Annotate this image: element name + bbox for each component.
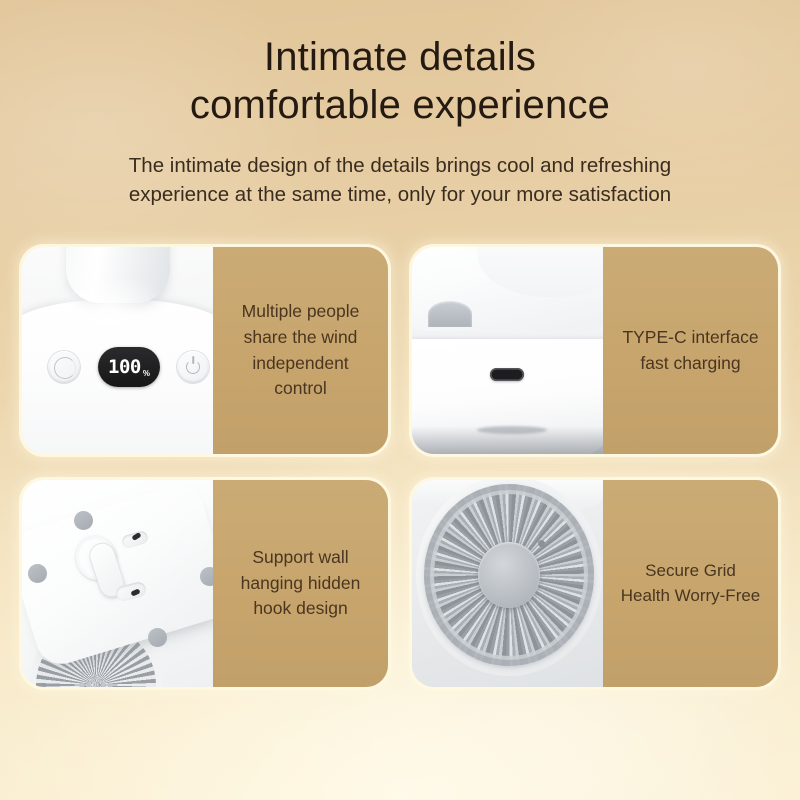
rubber-foot-pad bbox=[200, 567, 213, 586]
product-photo-usb-c-port bbox=[412, 247, 603, 454]
subtitle-line2: experience at the same time, only for yo… bbox=[0, 180, 800, 209]
caption-text-3: Support wall hanging hidden hook design bbox=[241, 545, 361, 622]
product-photo-control-panel: 100 % bbox=[22, 247, 213, 454]
feature-card-wall-hanging-hook[interactable]: Support wall hanging hidden hook design bbox=[22, 480, 388, 687]
fan-grille-icon bbox=[424, 484, 594, 666]
led-display: 100 % bbox=[98, 347, 160, 387]
product-photo-fan-grille bbox=[412, 480, 603, 687]
fan-speed-button bbox=[48, 351, 80, 383]
led-display-unit: % bbox=[143, 369, 150, 378]
caption-panel-3: Support wall hanging hidden hook design bbox=[213, 480, 388, 687]
heading-block: Intimate details comfortable experience … bbox=[0, 34, 800, 209]
led-display-value: 100 bbox=[108, 356, 141, 378]
fan-hub-cap bbox=[478, 542, 540, 608]
highlight-glow bbox=[49, 273, 169, 343]
caption-text-4: Secure Grid Health Worry-Free bbox=[621, 559, 761, 609]
product-photo-rear-hook bbox=[22, 480, 213, 687]
rubber-foot-pad bbox=[28, 564, 47, 583]
fan-hinge-knob bbox=[428, 301, 472, 327]
feature-card-grid: 100 % Multiple people share the wind ind… bbox=[22, 247, 778, 709]
infographic-page: Intimate details comfortable experience … bbox=[0, 0, 800, 800]
caption-panel-4: Secure Grid Health Worry-Free bbox=[603, 480, 778, 687]
page-title-line2: comfortable experience bbox=[0, 82, 800, 129]
subtitle-line1: The intimate design of the details bring… bbox=[0, 151, 800, 180]
power-icon bbox=[186, 360, 200, 374]
caption-panel-2: TYPE-C interface fast charging bbox=[603, 247, 778, 454]
caption-panel-1: Multiple people share the wind independe… bbox=[213, 247, 388, 454]
subtitle-block: The intimate design of the details bring… bbox=[0, 151, 800, 209]
caption-text-2: TYPE-C interface fast charging bbox=[622, 325, 758, 376]
caption-text-1: Multiple people share the wind independe… bbox=[242, 299, 360, 402]
rubber-foot-pad bbox=[148, 628, 167, 647]
feature-card-type-c-fast-charging[interactable]: TYPE-C interface fast charging bbox=[412, 247, 778, 454]
usb-c-port-icon bbox=[490, 368, 524, 381]
feature-card-multiple-people-share-wind[interactable]: 100 % Multiple people share the wind ind… bbox=[22, 247, 388, 454]
page-title-line1: Intimate details bbox=[0, 34, 800, 81]
rubber-foot-pad bbox=[74, 511, 93, 530]
power-button bbox=[177, 351, 209, 383]
feature-card-secure-grid[interactable]: Secure Grid Health Worry-Free bbox=[412, 480, 778, 687]
grille-screw bbox=[538, 540, 545, 547]
surface-shadow bbox=[412, 426, 603, 454]
